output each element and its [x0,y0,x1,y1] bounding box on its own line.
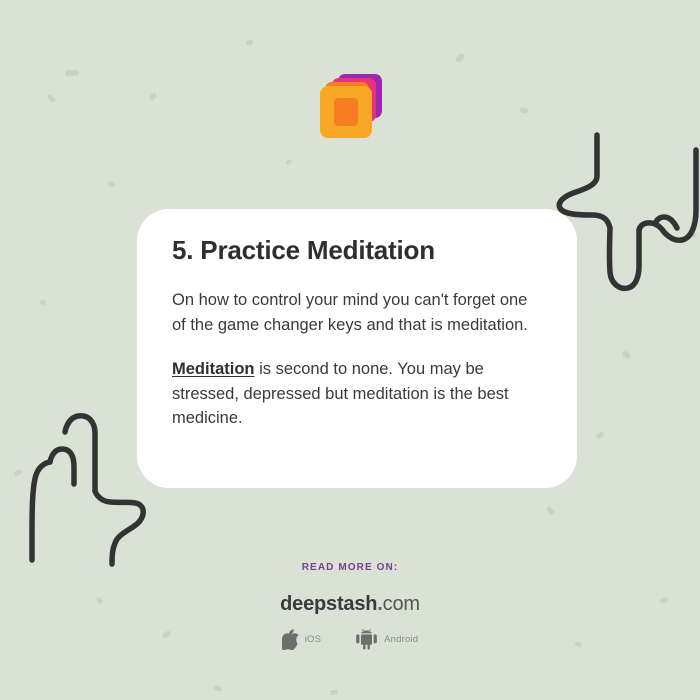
speck [689,231,698,239]
speck [595,431,604,439]
speck [13,469,22,477]
poster-canvas: 5. Practice Meditation On how to control… [0,0,700,700]
speck [46,94,56,104]
speck [285,159,292,166]
read-more-label: READ MORE ON: [0,562,700,573]
android-icon [355,629,378,650]
speck [454,52,465,63]
speck [519,107,528,114]
ios-store-badge[interactable]: iOS [282,629,321,650]
card-paragraph-1: On how to control your mind you can't fo… [172,288,543,337]
android-label: Android [384,634,418,645]
speck [621,350,632,360]
speck [148,92,157,101]
app-store-badges: iOS Android [0,629,700,650]
android-store-badge[interactable]: Android [355,629,418,650]
card-paragraph-2: Meditation is second to none. You may be… [172,357,543,431]
speck [65,70,79,77]
deepstash-cube-logo [308,66,388,146]
brand-wordmark[interactable]: deepstash.com [0,593,700,616]
speck [40,300,46,305]
brand-tld: com [383,593,420,615]
page-title: 5. Practice Meditation [172,235,543,266]
speck [546,505,556,515]
deepstash-logo [308,66,388,146]
apple-icon [282,629,299,650]
brand-name: deepstash [280,593,377,615]
speck [330,689,339,695]
keyword-meditation: Meditation [172,360,255,378]
speck [107,181,115,188]
ios-label: iOS [305,634,321,645]
content-card: 5. Practice Meditation On how to control… [137,209,577,488]
speck [245,39,253,46]
speck [213,685,222,692]
